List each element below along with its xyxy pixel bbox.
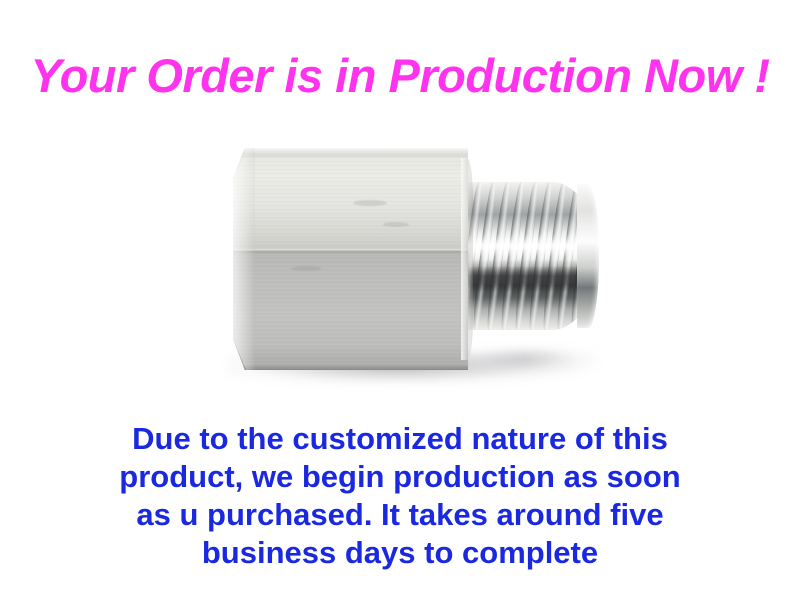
thread-end-cap [577, 184, 599, 328]
hex-nut-body [233, 148, 468, 370]
promo-banner: Your Order is in Production Now ! [0, 0, 800, 600]
hex-thread-shoulder [461, 158, 473, 360]
page-title: Your Order is in Production Now ! [0, 49, 800, 103]
hex-brushed-texture [233, 148, 468, 370]
product-image [200, 120, 630, 410]
hex-top-chamfer [239, 148, 468, 157]
body-copy-line: Due to the customized nature of this [0, 420, 800, 458]
body-copy: Due to the customized nature of this pro… [0, 420, 800, 572]
body-copy-line: as u purchased. It takes around five [0, 496, 800, 534]
hex-bottom-chamfer [239, 362, 468, 370]
hex-scuff-mark [353, 200, 387, 206]
body-copy-line: product, we begin production as soon [0, 458, 800, 496]
hex-scuff-mark [291, 266, 321, 271]
hex-faces [233, 148, 468, 370]
product-drop-shadow-secondary [450, 348, 600, 384]
body-copy-line: business days to complete [0, 534, 800, 572]
hex-scuff-mark [383, 222, 409, 227]
hex-left-chamfer [233, 148, 255, 370]
